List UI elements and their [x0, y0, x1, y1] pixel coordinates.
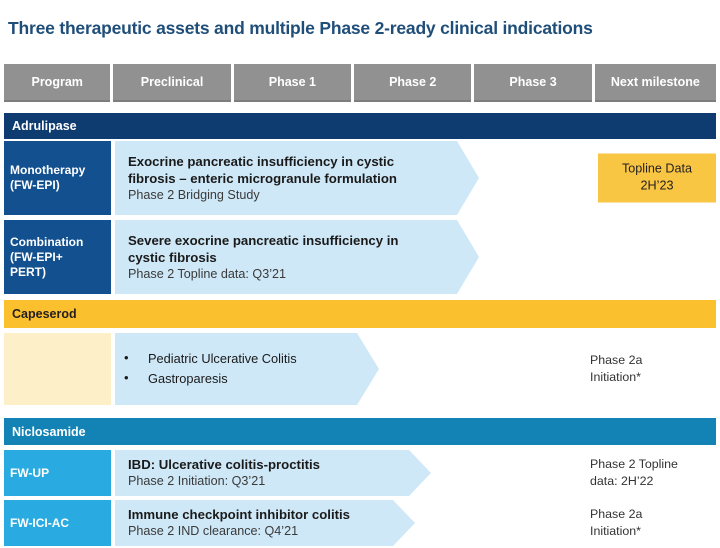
milestone-line-1: Phase 2a: [590, 506, 720, 523]
indication-line-2: fibrosis – enteric microgranule formulat…: [128, 170, 468, 187]
program-cell-fw-ici-ac: FW-ICI-AC: [4, 500, 111, 546]
table-row-capeserod: Pediatric Ulcerative Colitis Gastropares…: [4, 333, 716, 405]
indication-line-2: cystic fibrosis: [128, 249, 468, 266]
indication-block-fw-ici-ac: Immune checkpoint inhibitor colitis Phas…: [128, 500, 414, 546]
indication-detail: Phase 2 Topline data: Q3’21: [128, 266, 468, 282]
column-header-phase-1: Phase 1: [234, 64, 351, 102]
table-row-fw-ici-ac: FW-ICI-AC Immune checkpoint inhibitor co…: [4, 500, 716, 546]
column-header-phase-3: Phase 3: [474, 64, 591, 102]
program-label-line-1: Combination: [10, 235, 111, 250]
column-header-program: Program: [4, 64, 110, 102]
program-label-line-2: (FW-EPI+: [10, 250, 111, 265]
indication-block-capeserod: Pediatric Ulcerative Colitis Gastropares…: [124, 333, 364, 405]
indication-line-1: Immune checkpoint inhibitor colitis: [128, 506, 414, 523]
indication-detail: Phase 2 Initiation: Q3’21: [128, 473, 428, 489]
milestone-capeserod: Phase 2a Initiation*: [590, 333, 720, 405]
indication-detail: Phase 2 IND clearance: Q4’21: [128, 523, 414, 539]
program-cell-monotherapy: Monotherapy (FW-EPI): [4, 141, 111, 215]
indication-detail: Phase 2 Bridging Study: [128, 187, 468, 203]
milestone-badge-line-1: Topline Data: [622, 162, 692, 176]
program-label-line-1: FW-UP: [10, 466, 111, 481]
program-cell-capeserod-empty: [4, 333, 111, 405]
list-item: Pediatric Ulcerative Colitis: [124, 349, 364, 369]
program-cell-combination: Combination (FW-EPI+ PERT): [4, 220, 111, 294]
section-header-capeserod: Capeserod: [4, 300, 716, 328]
table-row-combination: Combination (FW-EPI+ PERT) Severe exocri…: [4, 220, 716, 294]
phase-column-header-row: Program Preclinical Phase 1 Phase 2 Phas…: [4, 64, 716, 102]
milestone-line-2: Initiation*: [590, 369, 720, 386]
milestone-fw-up: Phase 2 Topline data: 2H’22: [590, 450, 720, 496]
milestone-line-1: Phase 2 Topline: [590, 456, 720, 473]
milestone-badge-topline-data: Topline Data 2H’23: [598, 154, 716, 203]
list-item: Gastroparesis: [124, 369, 364, 389]
column-header-preclinical: Preclinical: [113, 64, 230, 102]
section-header-adrulipase: Adrulipase: [4, 113, 716, 139]
page-title: Three therapeutic assets and multiple Ph…: [8, 18, 714, 39]
indication-block-combination: Severe exocrine pancreatic insufficiency…: [128, 220, 468, 294]
column-header-next-milestone: Next milestone: [595, 64, 716, 102]
section-header-niclosamide: Niclosamide: [4, 418, 716, 445]
indication-line-1: Severe exocrine pancreatic insufficiency…: [128, 232, 468, 249]
milestone-line-2: data: 2H’22: [590, 473, 720, 490]
milestone-fw-ici-ac: Phase 2a Initiation*: [590, 500, 720, 546]
indication-line-1: IBD: Ulcerative colitis-proctitis: [128, 456, 428, 473]
program-cell-fw-up: FW-UP: [4, 450, 111, 496]
indication-block-monotherapy: Exocrine pancreatic insufficiency in cys…: [128, 141, 468, 215]
milestone-badge-line-2: 2H’23: [641, 179, 674, 193]
program-label-line-1: FW-ICI-AC: [10, 516, 111, 531]
indication-line-1: Exocrine pancreatic insufficiency in cys…: [128, 153, 468, 170]
table-row-monotherapy: Monotherapy (FW-EPI) Exocrine pancreatic…: [4, 141, 716, 215]
table-row-fw-up: FW-UP IBD: Ulcerative colitis-proctitis …: [4, 450, 716, 496]
program-label-line-2: (FW-EPI): [10, 178, 111, 193]
milestone-line-2: Initiation*: [590, 523, 720, 540]
indication-bullet-list: Pediatric Ulcerative Colitis Gastropares…: [124, 349, 364, 389]
milestone-line-1: Phase 2a: [590, 352, 720, 369]
program-label-line-1: Monotherapy: [10, 163, 111, 178]
column-header-phase-2: Phase 2: [354, 64, 471, 102]
indication-block-fw-up: IBD: Ulcerative colitis-proctitis Phase …: [128, 450, 428, 496]
program-label-line-3: PERT): [10, 265, 111, 280]
